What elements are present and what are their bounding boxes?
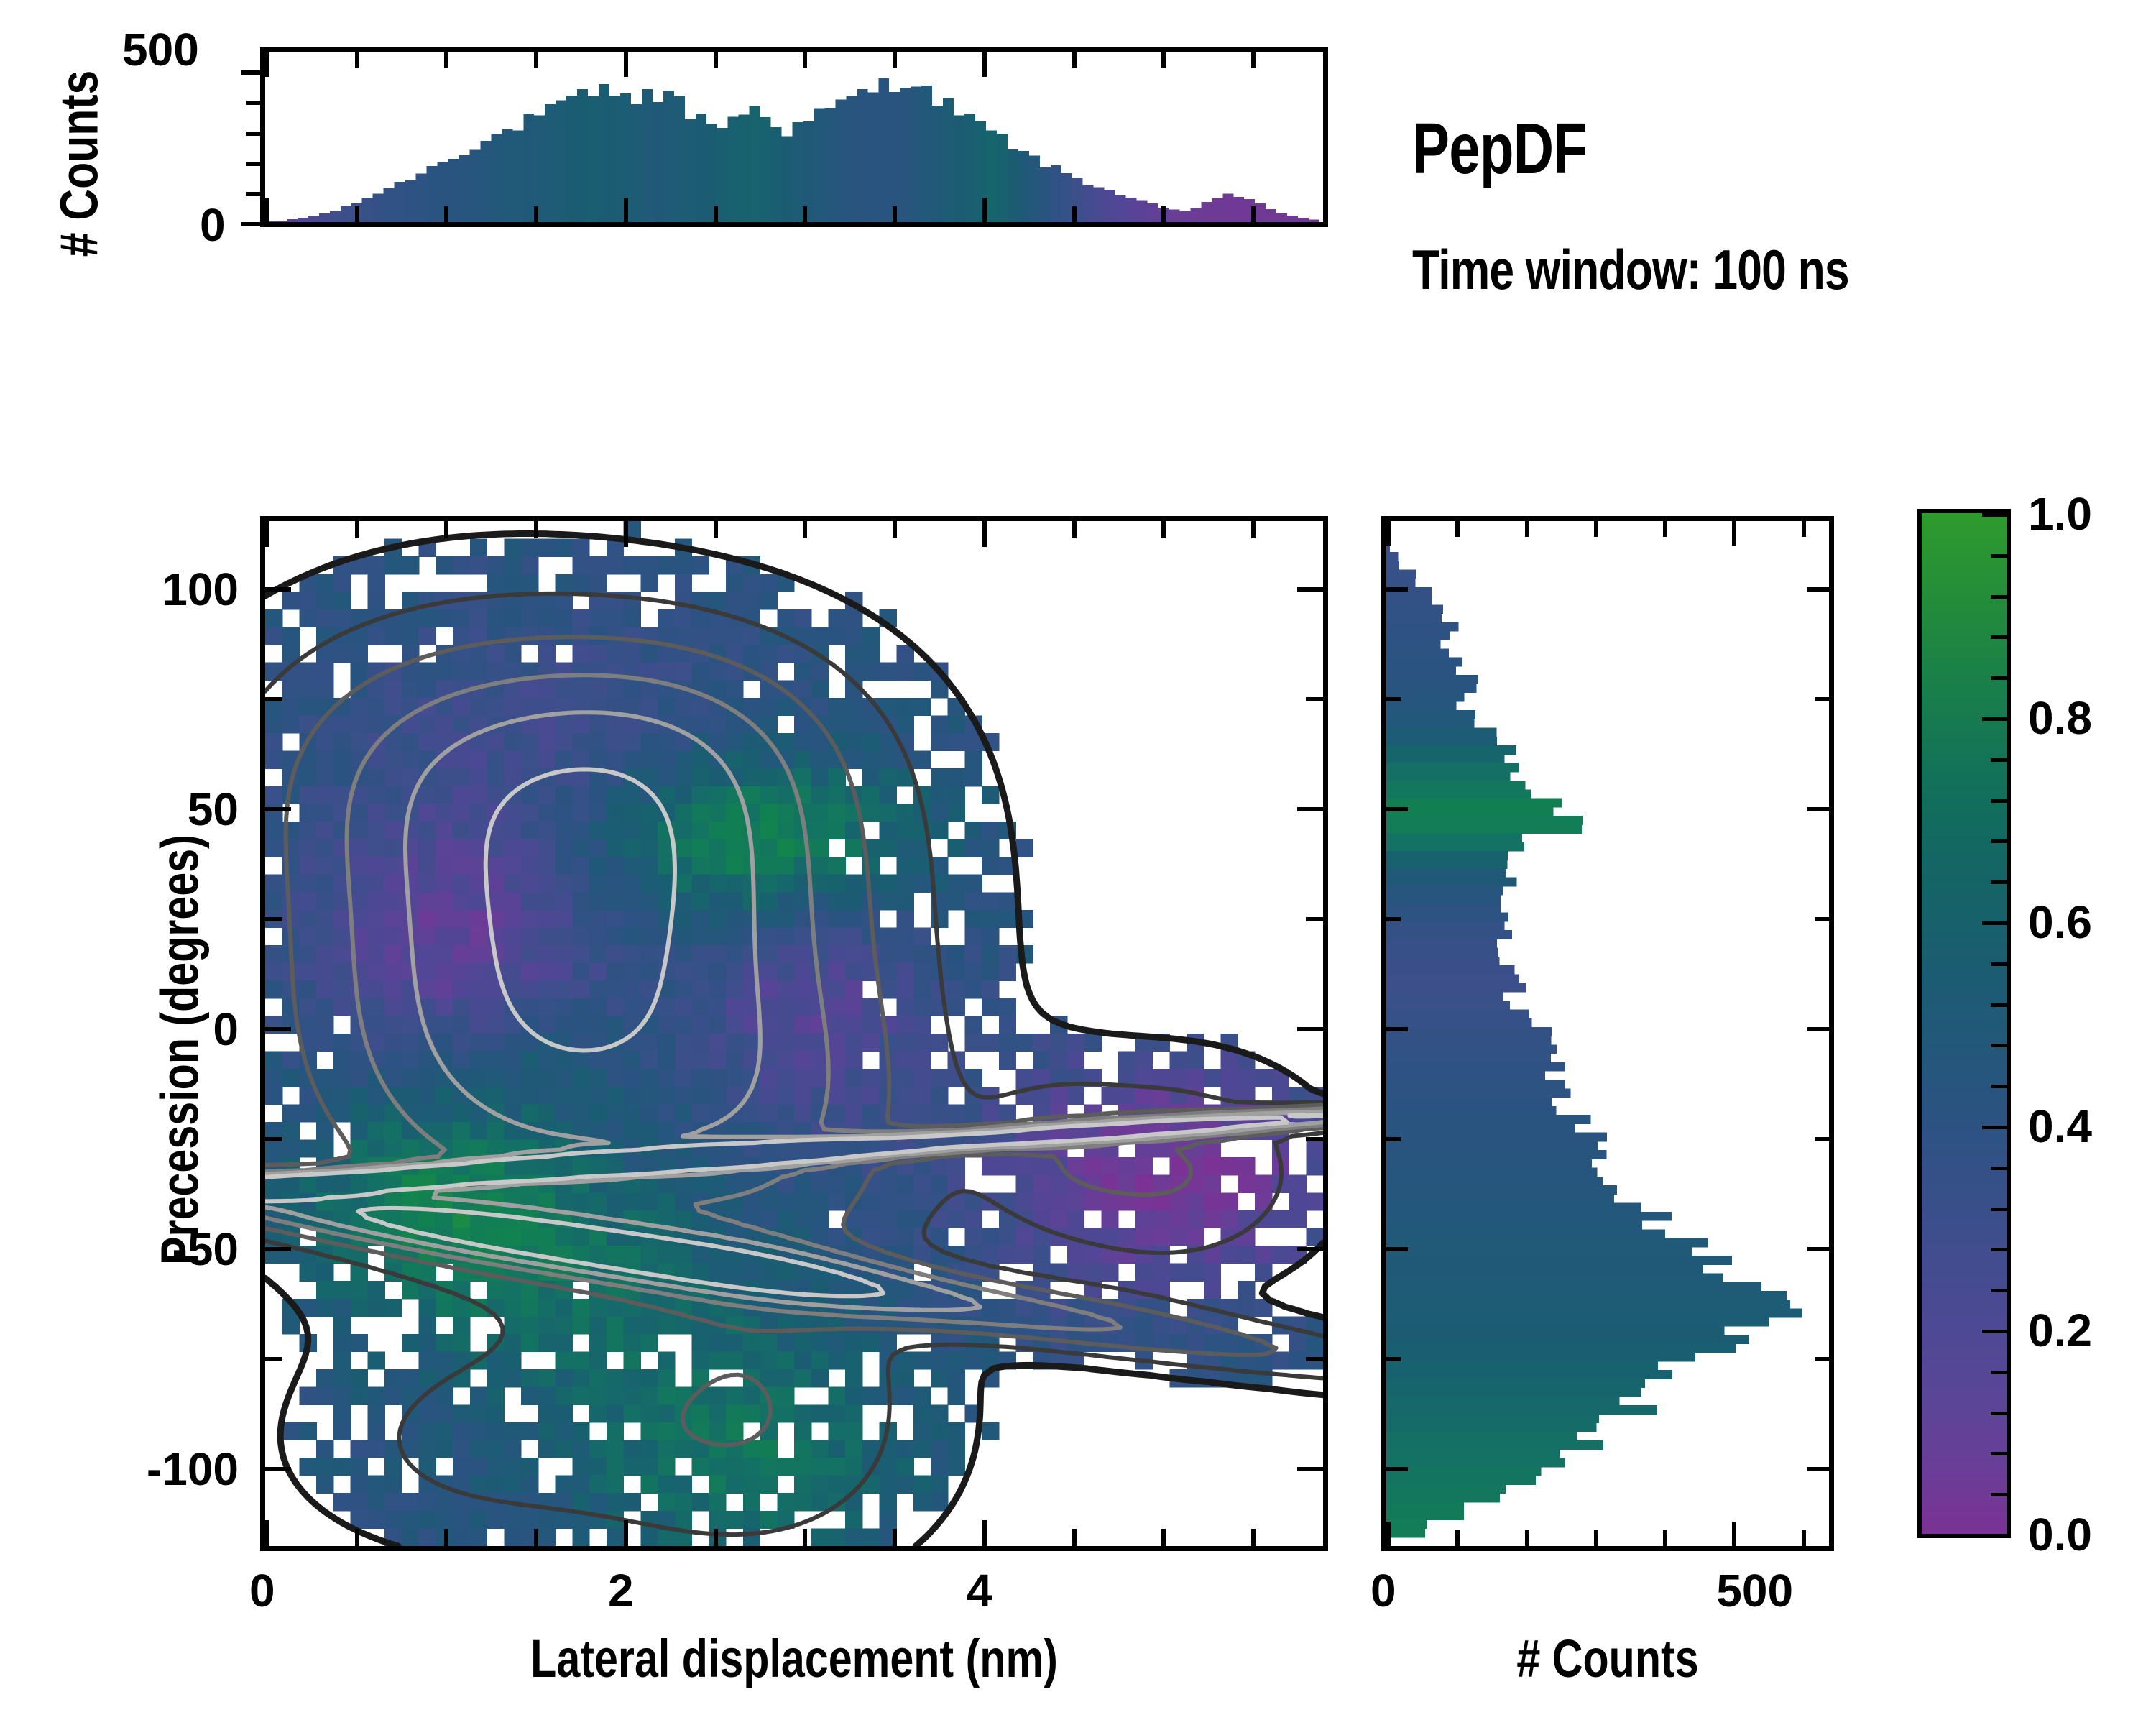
right-hist-ytick-right bbox=[1807, 1027, 1829, 1031]
main-ytick-right bbox=[1297, 1247, 1323, 1251]
colorbar-tick bbox=[1991, 1452, 2007, 1455]
colorbar-tick bbox=[1991, 1248, 2007, 1251]
right-histogram-bars bbox=[1386, 521, 1829, 1546]
top-hist-xtick-top bbox=[444, 52, 448, 68]
main-xtick-top bbox=[893, 521, 897, 538]
top-hist-ytick-500: 500 bbox=[122, 23, 199, 76]
colorbar bbox=[1917, 509, 2011, 1538]
right-hist-xticklabel: 0 bbox=[1370, 1564, 1396, 1617]
top-hist-xtick bbox=[714, 206, 718, 222]
figure-root: PepDF Time window: 100 ns 500 0 # Counts… bbox=[0, 0, 2156, 1725]
top-hist-xtick bbox=[265, 198, 269, 222]
colorbar-tick bbox=[1991, 1371, 2007, 1374]
colorbar-tick bbox=[1991, 839, 2007, 843]
colorbar-tick bbox=[1991, 1412, 2007, 1415]
top-hist-xtick bbox=[444, 206, 448, 222]
main-xtick-top bbox=[982, 521, 987, 547]
colorbar-ticklabel: 0.8 bbox=[2028, 691, 2092, 745]
main-xtick-top bbox=[1251, 521, 1256, 538]
main-xtick-top bbox=[534, 521, 538, 538]
top-hist-xtick-top bbox=[624, 52, 628, 77]
main-ylabel: Precession (degrees) bbox=[149, 636, 211, 1464]
colorbar-tick bbox=[1991, 1289, 2007, 1292]
top-hist-xtick bbox=[982, 198, 987, 222]
top-hist-xtick bbox=[893, 206, 897, 222]
main-xlabel: Lateral displacement (nm) bbox=[367, 1628, 1222, 1689]
top-hist-xtick-top bbox=[1072, 52, 1077, 68]
colorbar-tick bbox=[1991, 1085, 2007, 1088]
right-hist-ytick-right bbox=[1815, 1137, 1829, 1141]
right-hist-ytick-right bbox=[1815, 1357, 1829, 1361]
right-marginal-histogram bbox=[1381, 516, 1834, 1551]
top-hist-xtick bbox=[1251, 206, 1256, 222]
top-hist-ytick bbox=[246, 101, 260, 105]
right-hist-xtick-top bbox=[1525, 521, 1529, 537]
right-hist-ytick-right bbox=[1807, 587, 1829, 592]
right-hist-ytick bbox=[1386, 587, 1408, 592]
right-hist-ytick bbox=[1386, 1027, 1408, 1031]
right-hist-xtick bbox=[1455, 1530, 1460, 1546]
colorbar-tick bbox=[1982, 1534, 2007, 1537]
main-ytick bbox=[265, 807, 291, 811]
top-hist-xtick-top bbox=[714, 52, 718, 68]
main-ytick bbox=[265, 697, 282, 701]
heatmap-and-contours bbox=[265, 521, 1323, 1546]
top-marginal-histogram bbox=[260, 47, 1328, 227]
right-hist-ytick bbox=[1386, 807, 1408, 811]
right-hist-xtick-top bbox=[1732, 521, 1736, 546]
main-yticklabel: 50 bbox=[188, 783, 239, 836]
right-hist-ytick bbox=[1386, 1357, 1401, 1361]
right-hist-ytick-right bbox=[1807, 807, 1829, 811]
right-hist-xtick bbox=[1386, 1522, 1391, 1546]
top-hist-xtick-top bbox=[534, 52, 538, 68]
top-hist-xtick bbox=[534, 206, 538, 222]
right-hist-ytick bbox=[1386, 1137, 1401, 1141]
colorbar-tick bbox=[1991, 962, 2007, 966]
colorbar-gradient bbox=[1922, 513, 2007, 1534]
right-hist-xticklabel: 500 bbox=[1716, 1564, 1793, 1617]
main-xtick bbox=[1251, 1529, 1256, 1546]
main-ytick bbox=[265, 1027, 291, 1031]
main-ytick-right bbox=[1297, 1467, 1323, 1471]
colorbar-ticklabel: 0.0 bbox=[2028, 1508, 2092, 1561]
main-yticklabel: -50 bbox=[172, 1223, 239, 1276]
right-hist-xtick-top bbox=[1802, 521, 1806, 537]
colorbar-tick bbox=[1991, 1044, 2007, 1047]
right-hist-xtick-top bbox=[1663, 521, 1667, 537]
main-ytick-right bbox=[1306, 1137, 1323, 1141]
colorbar-ticklabel: 1.0 bbox=[2028, 487, 2092, 540]
main-ytick-right bbox=[1297, 1027, 1323, 1031]
main-ytick bbox=[265, 1247, 291, 1251]
top-hist-ytick bbox=[246, 132, 260, 136]
top-histogram-bars bbox=[265, 52, 1323, 222]
right-hist-ytick-right bbox=[1815, 917, 1829, 921]
main-xticklabel: 0 bbox=[249, 1564, 275, 1617]
main-ytick bbox=[265, 1357, 282, 1361]
top-hist-xtick bbox=[1161, 206, 1166, 222]
right-hist-xtick bbox=[1525, 1530, 1529, 1546]
colorbar-tick bbox=[1982, 921, 2007, 925]
colorbar-tick bbox=[1991, 880, 2007, 884]
right-hist-xtick-top bbox=[1455, 521, 1460, 537]
main-ytick bbox=[265, 1467, 291, 1471]
main-ytick bbox=[265, 1137, 282, 1141]
right-hist-xtick-top bbox=[1386, 521, 1391, 546]
top-hist-ytick bbox=[241, 222, 260, 226]
main-joint-plot bbox=[260, 516, 1328, 1551]
right-hist-ytick bbox=[1386, 1247, 1408, 1251]
top-hist-xtick-top bbox=[803, 52, 807, 68]
main-xtick bbox=[714, 1529, 718, 1546]
main-xtick bbox=[1072, 1529, 1077, 1546]
right-hist-ytick bbox=[1386, 917, 1401, 921]
colorbar-tick bbox=[1991, 1493, 2007, 1496]
main-xtick bbox=[265, 1520, 269, 1546]
colorbar-tick bbox=[1991, 1167, 2007, 1170]
right-hist-ytick bbox=[1386, 1467, 1408, 1471]
colorbar-tick bbox=[1982, 513, 2007, 517]
top-hist-ytick bbox=[246, 162, 260, 166]
main-xtick bbox=[624, 1520, 628, 1546]
colorbar-tick bbox=[1982, 1330, 2007, 1333]
right-hist-ytick bbox=[1386, 697, 1401, 701]
main-yticklabel: 0 bbox=[213, 1003, 239, 1056]
main-xtick-top bbox=[444, 521, 448, 538]
main-xticklabel: 4 bbox=[967, 1564, 992, 1617]
right-hist-xtick bbox=[1663, 1530, 1667, 1546]
top-hist-xtick-top bbox=[265, 52, 269, 77]
top-hist-ytick bbox=[246, 192, 260, 196]
main-ytick bbox=[265, 917, 282, 921]
main-xtick bbox=[534, 1529, 538, 1546]
colorbar-tick bbox=[1991, 676, 2007, 680]
right-hist-xtick-top bbox=[1594, 521, 1598, 537]
top-hist-xtick-top bbox=[1251, 52, 1256, 68]
top-hist-ytick-0: 0 bbox=[200, 198, 226, 252]
main-xtick bbox=[444, 1529, 448, 1546]
main-ytick-right bbox=[1306, 1357, 1323, 1361]
main-yticklabel: -100 bbox=[147, 1443, 239, 1496]
colorbar-tick bbox=[1982, 717, 2007, 721]
main-xtick bbox=[355, 1529, 359, 1546]
colorbar-tick bbox=[1991, 635, 2007, 639]
right-hist-xtick bbox=[1732, 1522, 1736, 1546]
colorbar-tick bbox=[1991, 1003, 2007, 1007]
top-hist-ylabel: # Counts bbox=[49, 40, 110, 287]
colorbar-tick bbox=[1991, 758, 2007, 762]
main-xtick bbox=[893, 1529, 897, 1546]
right-hist-xlabel: # Counts bbox=[1427, 1628, 1789, 1689]
right-hist-xtick bbox=[1594, 1530, 1598, 1546]
colorbar-tick bbox=[1991, 799, 2007, 803]
main-ytick bbox=[265, 587, 291, 592]
main-xtick-top bbox=[1072, 521, 1077, 538]
figure-subtitle: Time window: 100 ns bbox=[1412, 237, 1849, 303]
main-xtick bbox=[803, 1529, 807, 1546]
top-hist-xtick-top bbox=[893, 52, 897, 68]
main-ytick-right bbox=[1297, 587, 1323, 592]
main-xtick-top bbox=[265, 521, 269, 547]
main-ytick-right bbox=[1306, 917, 1323, 921]
main-ytick-right bbox=[1297, 807, 1323, 811]
top-hist-xtick-top bbox=[355, 52, 359, 68]
colorbar-tick bbox=[1991, 554, 2007, 558]
top-hist-xtick-top bbox=[982, 52, 987, 77]
main-xtick bbox=[1161, 1529, 1166, 1546]
main-ytick-right bbox=[1306, 697, 1323, 701]
top-hist-xtick bbox=[1072, 206, 1077, 222]
right-hist-ytick-right bbox=[1807, 1247, 1829, 1251]
top-hist-xtick-top bbox=[1161, 52, 1166, 68]
right-hist-xtick bbox=[1802, 1530, 1806, 1546]
main-yticklabel: 100 bbox=[162, 563, 239, 616]
top-hist-xtick bbox=[624, 198, 628, 222]
main-xtick-top bbox=[355, 521, 359, 538]
main-xtick-top bbox=[624, 521, 628, 547]
main-xtick-top bbox=[1161, 521, 1166, 538]
top-hist-xtick bbox=[803, 206, 807, 222]
main-xtick bbox=[982, 1520, 987, 1546]
colorbar-ticklabel: 0.6 bbox=[2028, 896, 2092, 949]
figure-title: PepDF bbox=[1412, 108, 1587, 190]
main-xticklabel: 2 bbox=[608, 1564, 634, 1617]
colorbar-tick bbox=[1982, 1126, 2007, 1129]
right-hist-ytick-right bbox=[1815, 697, 1829, 701]
colorbar-tick bbox=[1991, 595, 2007, 599]
top-hist-ytick bbox=[241, 70, 260, 75]
colorbar-ticklabel: 0.4 bbox=[2028, 1100, 2092, 1153]
main-xtick-top bbox=[714, 521, 718, 538]
main-xtick-top bbox=[803, 521, 807, 538]
top-hist-xtick bbox=[355, 206, 359, 222]
right-hist-ytick-right bbox=[1807, 1467, 1829, 1471]
colorbar-tick bbox=[1991, 1207, 2007, 1211]
colorbar-ticklabel: 0.2 bbox=[2028, 1304, 2092, 1357]
